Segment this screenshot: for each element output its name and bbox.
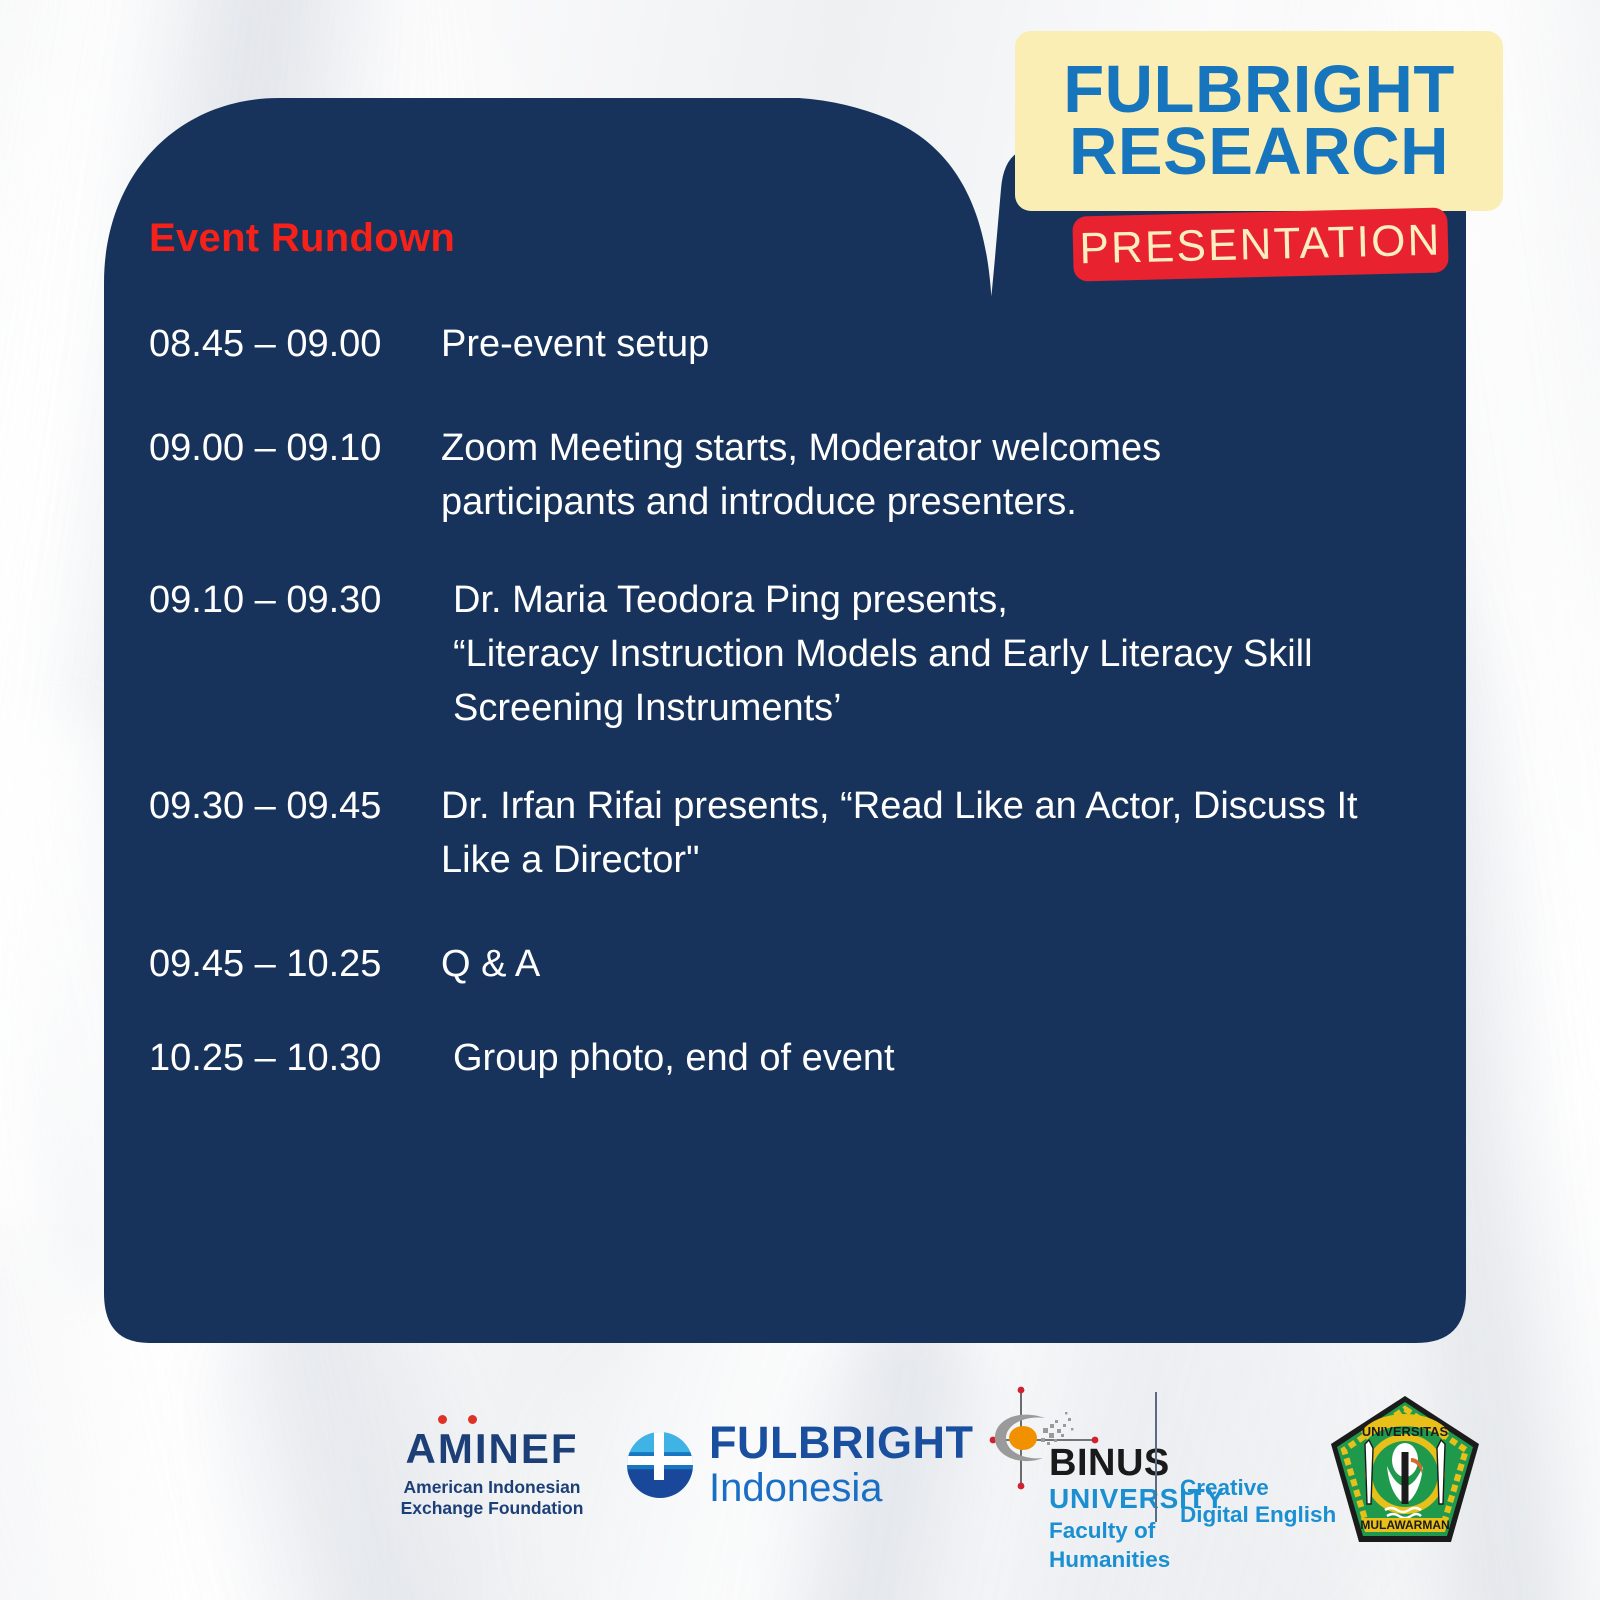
- schedule-row: 08.45 – 09.00 Pre-event setup: [149, 318, 1449, 372]
- title-line-2: RESEARCH: [1069, 121, 1449, 183]
- globe-icon: [627, 1432, 693, 1498]
- footer-divider: [1155, 1392, 1157, 1522]
- aminef-wordmark: AMINEF: [406, 1428, 579, 1470]
- aminef-subtitle: American Indonesian Exchange Foundation: [392, 1477, 592, 1520]
- page-title: Event Rundown: [149, 216, 455, 261]
- schedule-time: 09.10 – 09.30: [149, 574, 433, 736]
- fulbright-indonesia-logo: FULBRIGHT Indonesia: [627, 1420, 973, 1509]
- schedule-time: 09.30 – 09.45: [149, 780, 433, 888]
- schedule-time: 09.45 – 10.25: [149, 938, 433, 992]
- binus-faculty-line-2: Humanities: [1049, 1546, 1225, 1573]
- schedule-row: 09.00 – 09.10 Zoom Meeting starts, Moder…: [149, 422, 1449, 530]
- schedule-description: Dr. Maria Teodora Ping presents, “Litera…: [433, 574, 1449, 736]
- schedule-row: 09.10 – 09.30 Dr. Maria Teodora Ping pre…: [149, 574, 1449, 736]
- aminef-subtitle-line-1: American Indonesian: [392, 1477, 592, 1498]
- aminef-dot-icon: [468, 1415, 477, 1424]
- schedule-row: 09.30 – 09.45 Dr. Irfan Rifai presents, …: [149, 780, 1449, 888]
- schedule-list: 08.45 – 09.00 Pre-event setup 09.00 – 09…: [149, 318, 1449, 1118]
- header-subtitle-badge: PRESENTATION: [1072, 207, 1448, 281]
- schedule-description: Zoom Meeting starts, Moderator welcomes …: [433, 422, 1449, 530]
- schedule-description: Dr. Irfan Rifai presents, “Read Like an …: [433, 780, 1449, 888]
- program-line-2: Digital English: [1180, 1501, 1336, 1528]
- aminef-mark-text: AMINEF: [406, 1425, 579, 1472]
- mulawarman-crest-icon: UNIVERSITAS MULAWARMAN: [1325, 1392, 1485, 1557]
- schedule-row: 10.25 – 10.30 Group photo, end of event: [149, 1032, 1449, 1086]
- subtitle-text: PRESENTATION: [1079, 215, 1442, 274]
- poster-canvas: FULBRIGHT RESEARCH PRESENTATION Event Ru…: [0, 0, 1600, 1600]
- fulbright-line-1: FULBRIGHT: [709, 1420, 973, 1465]
- program-line-1: Creative: [1180, 1474, 1336, 1501]
- schedule-time: 08.45 – 09.00: [149, 318, 433, 372]
- schedule-description: Group photo, end of event: [433, 1032, 1449, 1086]
- aminef-logo: AMINEF American Indonesian Exchange Foun…: [392, 1428, 592, 1520]
- schedule-description: Q & A: [433, 938, 1449, 992]
- schedule-description: Pre-event setup: [433, 318, 1449, 372]
- schedule-time: 09.00 – 09.10: [149, 422, 433, 530]
- fulbright-line-2: Indonesia: [709, 1467, 973, 1509]
- schedule-time: 10.25 – 10.30: [149, 1032, 433, 1086]
- schedule-row: 09.45 – 10.25 Q & A: [149, 938, 1449, 992]
- aminef-subtitle-line-2: Exchange Foundation: [392, 1498, 592, 1519]
- aminef-dot-icon: [438, 1415, 447, 1424]
- program-label: Creative Digital English: [1180, 1474, 1336, 1529]
- header-title-badge: FULBRIGHT RESEARCH: [1015, 31, 1503, 211]
- fulbright-wordmark: FULBRIGHT Indonesia: [709, 1420, 973, 1509]
- crest-top-text: UNIVERSITAS: [1362, 1424, 1449, 1439]
- crest-bottom-text: MULAWARMAN: [1360, 1518, 1449, 1532]
- title-line-1: FULBRIGHT: [1063, 59, 1455, 121]
